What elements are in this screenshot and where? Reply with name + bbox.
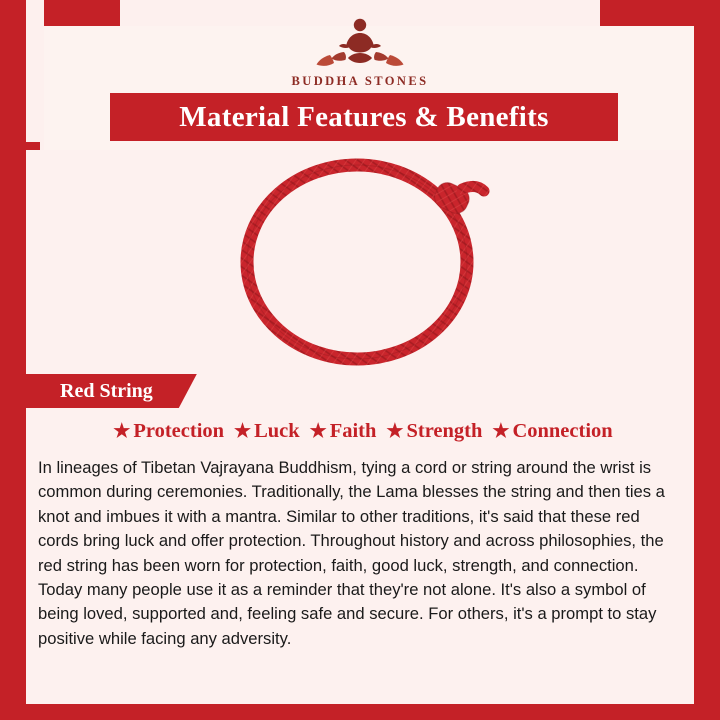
infographic-page: BUDDHA STONES Material Features & Benefi… xyxy=(0,0,720,720)
benefit-label: Protection xyxy=(133,420,224,443)
brand-name: BUDDHA STONES xyxy=(0,74,720,89)
benefit-label: Faith xyxy=(330,420,377,443)
benefit-item-protection: ★ Protection xyxy=(107,420,224,443)
benefit-label: Luck xyxy=(254,420,300,443)
benefit-item-luck: ★ Luck xyxy=(228,420,300,443)
benefit-item-strength: ★ Strength xyxy=(380,420,482,443)
benefit-item-connection: ★ Connection xyxy=(486,420,612,443)
brand-logo: BUDDHA STONES xyxy=(0,14,720,89)
red-string-bracelet-icon xyxy=(210,155,510,370)
decorative-band-bottom xyxy=(0,704,720,720)
lotus-meditation-icon xyxy=(308,14,412,72)
star-icon: ★ xyxy=(310,422,327,441)
description-text: In lineages of Tibetan Vajrayana Buddhis… xyxy=(26,456,694,651)
star-icon: ★ xyxy=(113,422,130,441)
benefit-item-faith: ★ Faith xyxy=(304,420,377,443)
benefit-label: Connection xyxy=(512,420,612,443)
benefit-label: Strength xyxy=(406,420,482,443)
benefits-list: ★ Protection ★ Luck ★ Faith ★ Strength ★… xyxy=(26,420,694,443)
product-image xyxy=(26,150,694,375)
page-title: Material Features & Benefits xyxy=(110,93,618,141)
star-icon: ★ xyxy=(492,422,509,441)
star-icon: ★ xyxy=(234,422,251,441)
star-icon: ★ xyxy=(386,422,403,441)
product-label-text: Red String xyxy=(60,380,153,403)
page-title-text: Material Features & Benefits xyxy=(179,101,548,134)
product-label-tab: Red String xyxy=(26,374,197,408)
